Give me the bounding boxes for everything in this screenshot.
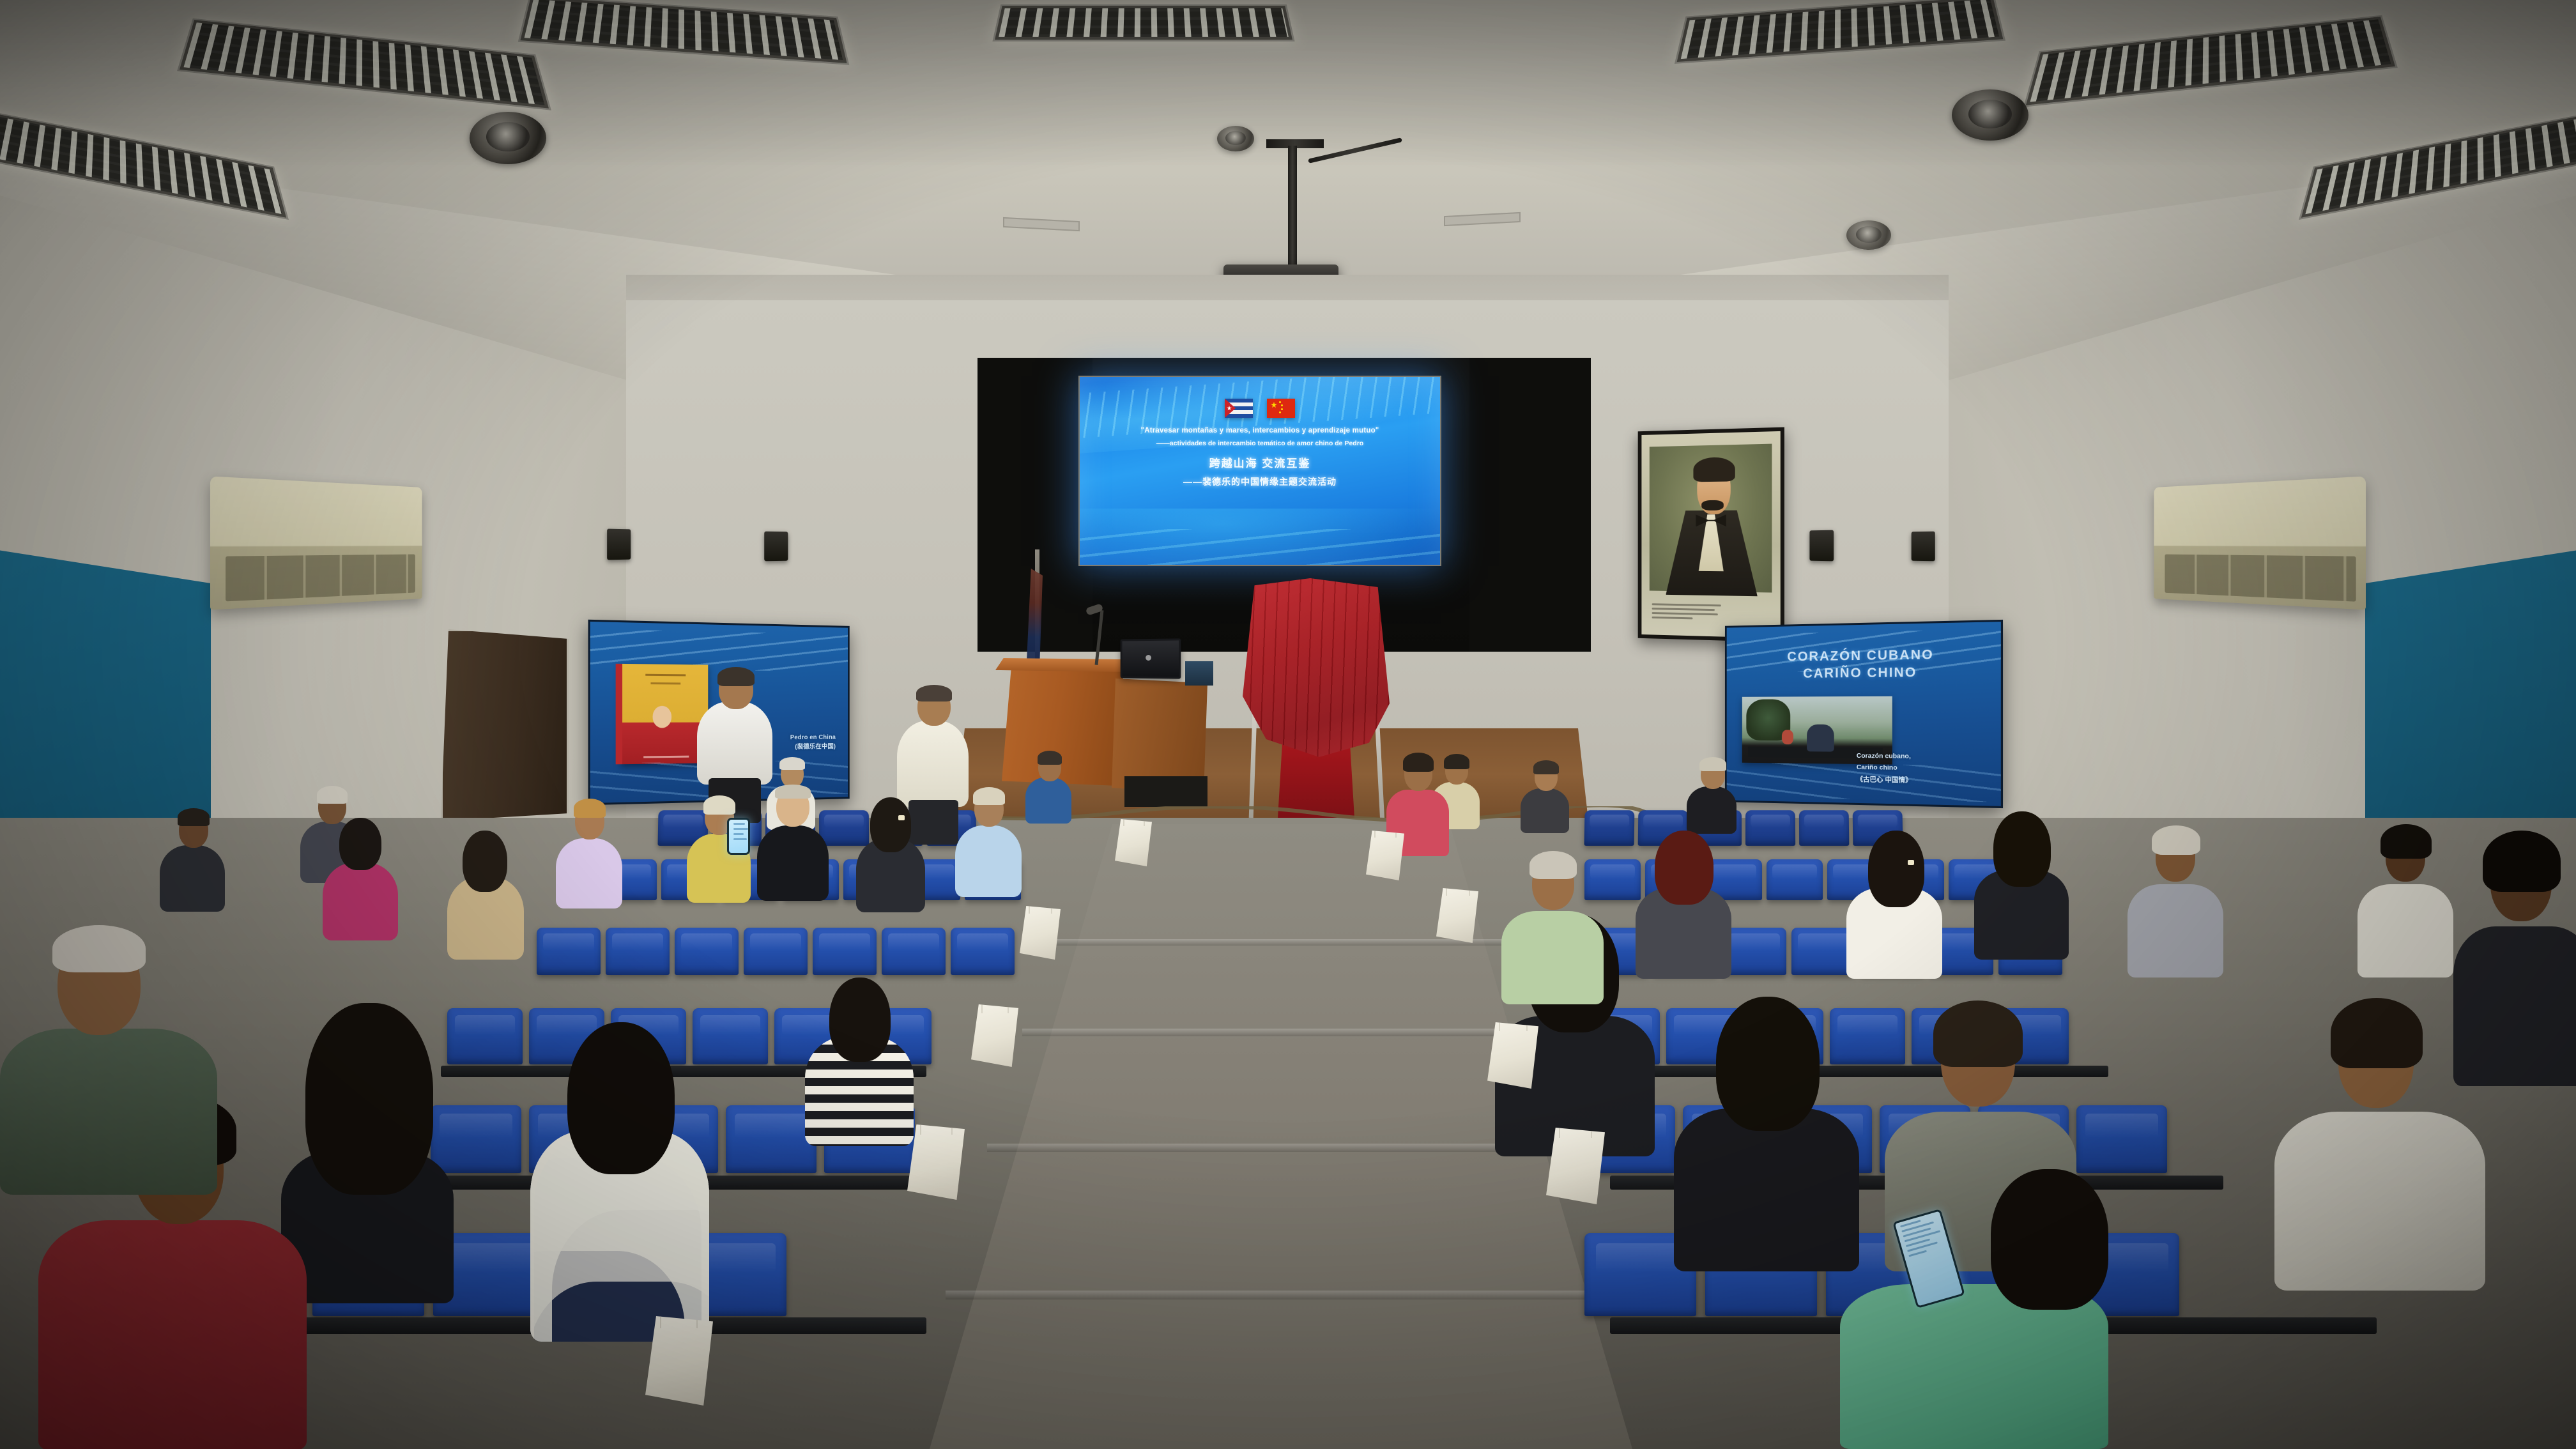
audience-member	[1521, 760, 1569, 832]
person-hair	[775, 785, 811, 799]
banner-right-title-line-2: CARIÑO CHINO	[1727, 663, 2001, 683]
seat[interactable]	[2076, 1105, 2167, 1173]
ceiling-speaker	[470, 112, 546, 164]
person-torso	[2357, 884, 2453, 977]
person-hair	[1868, 831, 1924, 907]
person-torso	[38, 1220, 307, 1449]
seat[interactable]	[606, 928, 670, 975]
banner-right-caption-line-2: Cariño chino	[1857, 762, 1986, 775]
person-hair	[829, 977, 891, 1062]
person-torso	[556, 838, 622, 908]
side-door[interactable]	[441, 629, 569, 821]
person-hair	[463, 831, 507, 892]
person-hair	[317, 786, 348, 804]
screen-text-block: "Atravesar montañas y mares, intercambio…	[1091, 427, 1429, 488]
banner-right-caption: Corazón cubano, Cariño chino 《古巴心 中国情》	[1857, 750, 1986, 788]
wall-speaker	[607, 529, 631, 560]
person-hair	[779, 757, 805, 770]
seat[interactable]	[744, 928, 808, 975]
audience-member	[1674, 997, 1859, 1271]
person-hair	[1699, 757, 1726, 771]
person-hair	[2152, 825, 2200, 855]
gift-bag[interactable]	[1115, 819, 1152, 866]
audience-member-with-phone	[757, 785, 829, 900]
person-hair	[870, 797, 911, 852]
podium-top	[995, 658, 1131, 672]
seat[interactable]	[1584, 810, 1634, 846]
air-conditioner-right	[2154, 476, 2366, 609]
portrait-caption-text	[1647, 591, 1732, 633]
audience-member	[1025, 751, 1071, 821]
ceiling-light-fixture	[992, 4, 1294, 42]
audience-member	[0, 920, 217, 1195]
person-hair	[1529, 851, 1577, 879]
person-torso	[757, 825, 829, 901]
audience-member	[805, 977, 914, 1144]
gift-bag[interactable]	[1487, 1022, 1538, 1089]
audience-member	[160, 808, 225, 910]
seat-row	[1584, 1105, 2167, 1173]
person-torso	[160, 845, 225, 912]
framed-portrait	[1638, 427, 1784, 643]
smartphone[interactable]	[727, 818, 750, 855]
person-hair	[1716, 997, 1820, 1131]
laptop	[1121, 638, 1181, 678]
audience-member	[955, 787, 1022, 896]
person-hair	[1991, 1169, 2108, 1310]
audience-member	[2453, 831, 2576, 1086]
person-hair	[1933, 1000, 2023, 1067]
seat[interactable]	[1767, 859, 1823, 900]
projection-screen: "Atravesar montañas y mares, intercambio…	[1078, 376, 1441, 566]
stage-backdrop-right	[1469, 358, 1591, 652]
projector-mount-pole	[1288, 146, 1297, 267]
gift-bag[interactable]	[907, 1124, 965, 1200]
audience-member	[1687, 757, 1736, 832]
portrait-moustache	[1701, 500, 1724, 510]
person-torso	[697, 701, 772, 785]
person-hair	[916, 685, 952, 701]
person-hair	[2380, 824, 2432, 859]
banner-right-title: CORAZÓN CUBANO CARIÑO CHINO	[1727, 646, 2001, 683]
seat-row	[537, 928, 1015, 975]
banner-right-caption-line-1: Corazón cubano,	[1857, 750, 1986, 763]
audience-member	[530, 1022, 709, 1342]
aisle-step	[1048, 939, 1521, 946]
seat[interactable]	[1791, 928, 1855, 975]
person-hair	[567, 1022, 675, 1174]
banner-right-caption-line-3: 《古巴心 中国情》	[1857, 774, 1986, 788]
person-hair	[1038, 751, 1062, 765]
seat[interactable]	[882, 928, 946, 975]
aisle-step	[987, 1144, 1581, 1152]
portrait-hair	[1693, 457, 1735, 482]
person-torso	[955, 825, 1022, 897]
person-torso	[1521, 788, 1569, 833]
seat[interactable]	[726, 1105, 816, 1173]
person-torso	[1025, 778, 1071, 824]
gift-bag[interactable]	[1366, 831, 1404, 880]
person-hair	[973, 787, 1005, 805]
person-hair	[1403, 753, 1434, 772]
person-torso	[2453, 926, 2576, 1086]
wall-speaker	[1912, 532, 1935, 562]
gift-bag[interactable]	[1020, 906, 1061, 960]
air-conditioner-left	[210, 476, 422, 609]
auditorium-photo: "Atravesar montañas y mares, intercambio…	[0, 0, 2576, 1449]
person-torso	[0, 1029, 217, 1195]
portrait-canvas	[1641, 431, 1780, 638]
audience-member	[447, 831, 524, 958]
red-drape-cover	[1243, 578, 1390, 757]
seat[interactable]	[537, 928, 601, 975]
person-hair	[2483, 831, 2561, 892]
audience-member	[1636, 831, 1731, 977]
av-equipment-box	[1185, 661, 1213, 686]
audience-member	[556, 799, 622, 907]
seat[interactable]	[813, 928, 877, 975]
person-torso	[1687, 786, 1736, 834]
person-hair	[178, 808, 210, 826]
person-hair	[717, 667, 755, 686]
gift-bag[interactable]	[1436, 888, 1478, 943]
person-hair	[2331, 998, 2423, 1068]
person-hair	[1533, 760, 1559, 774]
audience-member	[1974, 811, 2069, 958]
person-hair	[1993, 811, 2051, 887]
ceiling-speaker	[1846, 220, 1891, 250]
aisle-step	[946, 1291, 1623, 1299]
screen-line-spanish-subtitle: ——actividades de intercambio temático de…	[1091, 440, 1429, 447]
hair-clip	[1908, 860, 1914, 865]
seat[interactable]	[1745, 810, 1795, 846]
audience-member	[856, 797, 925, 911]
person-hair	[1655, 831, 1713, 905]
seat[interactable]	[1799, 810, 1850, 846]
screen-line-spanish-quote: "Atravesar montañas y mares, intercambio…	[1091, 427, 1429, 434]
gift-bag[interactable]	[1546, 1128, 1605, 1204]
audience-member	[2357, 824, 2453, 977]
av-equipment-shelf	[1124, 776, 1207, 807]
person-torso	[323, 862, 398, 940]
screen-line-chinese-title: 跨越山海 交流互鉴	[1091, 454, 1429, 470]
gift-bag[interactable]	[971, 1004, 1018, 1067]
screen-flag-pair	[1225, 399, 1295, 418]
aisle-step	[1022, 1029, 1546, 1036]
ceiling-speaker	[1952, 89, 2028, 141]
person-hair	[52, 925, 146, 972]
ceiling-speaker	[1217, 126, 1254, 151]
hair-clip	[898, 815, 905, 820]
audience-member	[1501, 850, 1604, 1003]
person-hair	[703, 795, 735, 815]
person-hair	[305, 1003, 433, 1195]
seat[interactable]	[1722, 928, 1786, 975]
audience-member	[323, 818, 398, 939]
person-torso	[1674, 1108, 1859, 1271]
gift-bag[interactable]	[645, 1316, 713, 1406]
cuba-flag-icon	[1225, 399, 1253, 418]
wall-speaker	[1809, 530, 1834, 562]
screen-line-chinese-subtitle: ——裴德乐的中国情缘主题交流活动	[1091, 475, 1429, 488]
audience-member	[1840, 1188, 2108, 1449]
person-hair	[339, 818, 381, 870]
seat[interactable]	[675, 928, 739, 975]
audience-member	[1846, 831, 1942, 977]
china-flag-icon	[1267, 399, 1295, 418]
banner-right: CORAZÓN CUBANO CARIÑO CHINO Corazón cuba…	[1725, 620, 2003, 808]
person-hair	[574, 799, 606, 818]
person-torso	[2274, 1112, 2485, 1291]
wall-speaker	[764, 532, 788, 562]
audience-member	[2127, 824, 2223, 977]
screen-wave-bottom	[1078, 509, 1441, 566]
person-torso	[1501, 911, 1604, 1004]
person-torso	[2127, 884, 2223, 977]
seat[interactable]	[951, 928, 1015, 975]
